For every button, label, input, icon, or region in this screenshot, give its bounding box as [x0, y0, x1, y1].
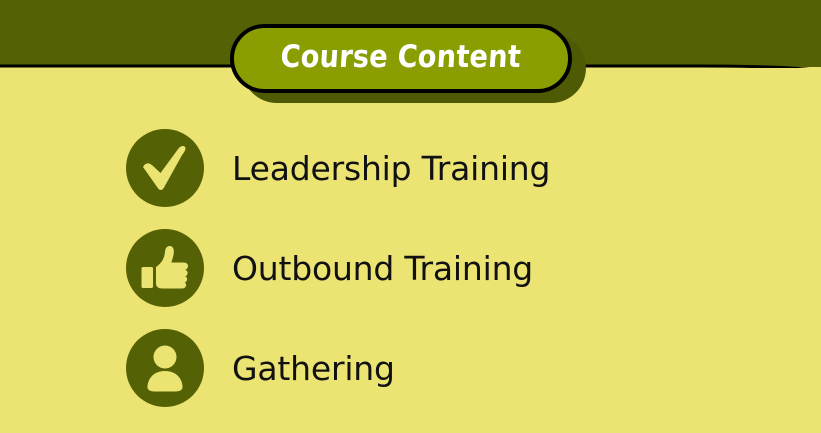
thumbs-up-circle-icon — [126, 229, 204, 307]
course-content-list: Leadership Training Outbound Training Ga… — [0, 118, 821, 418]
list-item-label: Outbound Training — [232, 252, 533, 285]
course-content-title-badge: Course Content — [228, 20, 588, 104]
slide-canvas: Course Content Leadership Training Outbo… — [0, 0, 821, 433]
list-item-label: Gathering — [232, 352, 395, 385]
list-item-label: Leadership Training — [232, 152, 550, 185]
page-title: Course Content — [280, 42, 523, 75]
person-circle-icon — [126, 329, 204, 407]
list-item[interactable]: Leadership Training — [0, 118, 821, 218]
list-item[interactable]: Gathering — [0, 318, 821, 418]
check-circle-icon — [126, 129, 204, 207]
title-badge-body: Course Content — [230, 24, 572, 93]
list-item[interactable]: Outbound Training — [0, 218, 821, 318]
